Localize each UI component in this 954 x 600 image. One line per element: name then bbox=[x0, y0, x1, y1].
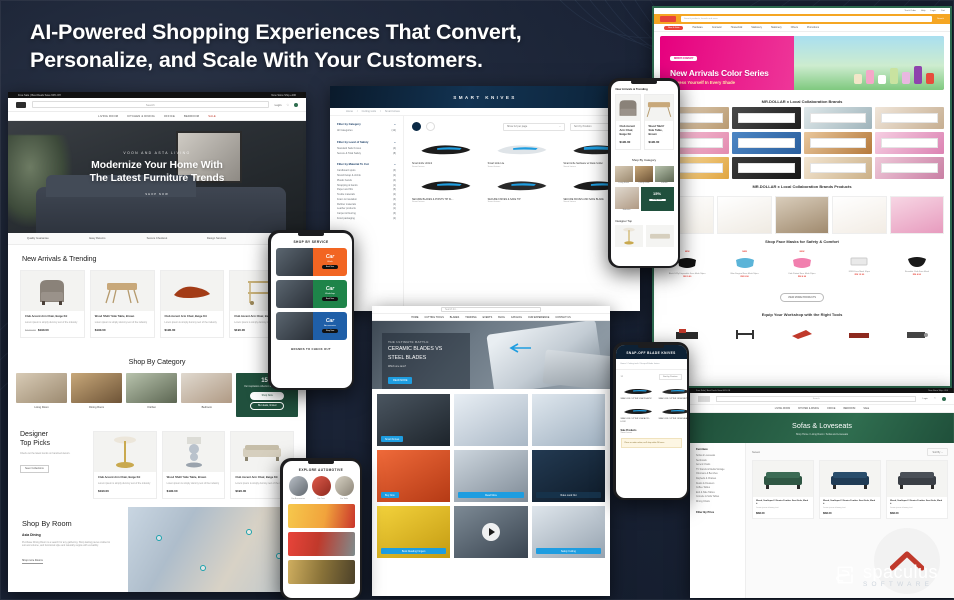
product-title: Club Accent Arm Chair, Beige Kit bbox=[25, 315, 80, 319]
product-card[interactable]: Club Accent Arm Chair, Beige Kit Lorem i… bbox=[20, 270, 85, 338]
product-title: SNAP-OFF CUTTER 9 MM AUTO-LOCK bbox=[621, 418, 655, 424]
view-more-products-button[interactable]: VIEW MORE PRODUCTS bbox=[780, 293, 824, 302]
product-desc: Lorem ipsum is simply dummy text of the … bbox=[98, 482, 152, 486]
search-bar[interactable]: Search products, brands and more Search bbox=[654, 14, 950, 24]
product-title: SNAP-OFF CUTTER 18 MM HEAVY bbox=[659, 418, 687, 421]
chevron-down-icon[interactable]: ⌄ bbox=[394, 140, 396, 144]
tile-caption[interactable]: Video Look Out bbox=[536, 492, 601, 498]
hero-arrow-icon bbox=[506, 343, 532, 353]
product-title: Wood, Scalloped 3 Seater Feather Seat So… bbox=[756, 500, 810, 507]
designer-collections-button[interactable]: Seen Collections bbox=[20, 465, 49, 473]
phone-mockup-furniture[interactable]: New Arrivals & Trending Club Accent Arm … bbox=[608, 78, 680, 268]
category-row[interactable]: Living Room Dining Room Kitchen Bedroom … bbox=[8, 373, 306, 425]
hotspot-marker[interactable] bbox=[200, 565, 206, 571]
banner-brand-tag: MRDIY.COM.MY bbox=[670, 56, 697, 61]
tool-product-card[interactable] bbox=[660, 324, 714, 344]
product-card[interactable]: Wood, Scalloped 3 Seater Feather Seat So… bbox=[819, 460, 881, 519]
banner-bottles bbox=[854, 66, 934, 84]
brands-grid[interactable] bbox=[654, 107, 950, 179]
nav-item-household[interactable]: Household bbox=[731, 26, 742, 29]
product-title: Wood, Scalloped 3 Seater Feather Seat So… bbox=[890, 500, 944, 507]
category-car-tools[interactable]: Car Tools bbox=[335, 476, 354, 500]
filter-price-title: Filter By Price bbox=[696, 511, 739, 514]
cart-icon[interactable] bbox=[294, 103, 298, 107]
breadcrumb[interactable]: Home/ Cutting tools/ Smart knives bbox=[330, 108, 640, 116]
phone-mockup-explore-automotive[interactable]: EXPLORE AUTOMOTIVE Car Accessories Car C… bbox=[280, 458, 362, 600]
login-link[interactable]: Login bbox=[931, 10, 936, 12]
promo-banner-car-care-special[interactable] bbox=[288, 504, 355, 528]
designer-title-line1: Designer bbox=[20, 431, 88, 440]
product-price: $190.00 bbox=[165, 328, 220, 332]
service-text: Car Accessories Shop Now bbox=[313, 312, 346, 340]
phone-screen: SHOP BY SERVICE Car Wash Book Now Car Wo… bbox=[271, 233, 352, 388]
filter-group-title: Filter by Material To Cut⌄ bbox=[337, 162, 396, 166]
new-arrivals-title: New Arrivals & Trending bbox=[8, 245, 306, 270]
hero-subtitle: Which one wins? bbox=[388, 365, 464, 368]
account-label[interactable]: Login bbox=[275, 103, 282, 107]
category-label: Car Accessories bbox=[289, 498, 308, 500]
tools-row[interactable] bbox=[654, 320, 950, 348]
play-icon[interactable] bbox=[482, 523, 500, 541]
product-price: RM 9.90 bbox=[660, 276, 714, 278]
track-order-link[interactable]: Track Order bbox=[904, 10, 916, 12]
service-button[interactable]: Shop Now bbox=[322, 329, 338, 333]
content-tile[interactable]: Video Look Out bbox=[532, 450, 605, 502]
hero-title-line1: Modernize Your Home With bbox=[8, 159, 306, 172]
tool-product-card[interactable] bbox=[832, 324, 886, 344]
nav-item-contact-us[interactable]: CONTACT US bbox=[555, 316, 570, 319]
brand-card[interactable] bbox=[732, 107, 801, 129]
bedroom-and-promo[interactable]: Bedroom 15% Shop Now bbox=[611, 184, 678, 214]
hotspot-marker[interactable] bbox=[156, 535, 162, 541]
product-grid[interactable]: Wood, Scalloped 3 Seater Feather Seat So… bbox=[752, 460, 948, 519]
product-card[interactable]: Smart knife Lite Smart knives bbox=[488, 138, 557, 168]
slide-canvas: AI-Powered Shopping Experiences That Con… bbox=[0, 0, 954, 600]
hero-read-more-button[interactable]: READ MORE bbox=[388, 377, 412, 384]
product-title: Club Accent Arm Chair, Beige Kit bbox=[620, 125, 636, 137]
mask-product-card[interactable]: NEW Blue Surgical Face Mask 50pcs RM 8.9… bbox=[717, 251, 771, 278]
list-view-button[interactable] bbox=[426, 122, 435, 131]
product-card[interactable]: Club Accent Arm Chair, Beige Kit$190.00 bbox=[615, 94, 641, 150]
product-grid-area: Show 12 per page⌄ Sort by Position⌄ Smar… bbox=[404, 116, 640, 311]
note-sub: Smart knives bbox=[621, 432, 682, 434]
product-image bbox=[753, 461, 813, 497]
watermark-text: spaculus SOFTWARE bbox=[863, 562, 938, 588]
category-card-dining-room[interactable]: Dining Room bbox=[635, 166, 653, 184]
phone-screen: EXPLORE AUTOMOTIVE Car Accessories Car C… bbox=[283, 461, 360, 598]
masks-row[interactable]: NEW Black 3-Ply Disposable Face Mask 50p… bbox=[654, 247, 950, 282]
search-input[interactable]: Search for... bbox=[441, 307, 541, 312]
category-image bbox=[126, 373, 177, 403]
category-card-living-room[interactable]: Living Room bbox=[16, 373, 67, 417]
usp-quality: Quality Guarantee bbox=[8, 237, 68, 240]
furniture-desktop-mockup[interactable]: Free Sale | Best Deals Save 60% Off New … bbox=[8, 92, 306, 592]
hero-title-line2: The Latest Furniture Trends bbox=[8, 172, 306, 185]
mask-product-card[interactable]: KN95 Face Mask 10pcs RM 12.90 bbox=[832, 251, 886, 276]
usp-returns: Easy Returns bbox=[68, 237, 128, 240]
nav-item-office[interactable]: OFFICE bbox=[827, 408, 835, 410]
nav-item-office[interactable]: OFFICE bbox=[164, 115, 175, 118]
nav-item-blades[interactable]: BLADES bbox=[450, 316, 459, 319]
cart-link[interactable]: Cart bbox=[941, 10, 945, 12]
mask-product-card[interactable]: Reusable Cloth Face Mask RM 4.90 bbox=[890, 251, 944, 276]
filter-group-material[interactable]: Filter by Material To Cut⌄ Cardboard spo… bbox=[337, 162, 396, 221]
nav-item-cosmetic[interactable]: Cosmetic bbox=[712, 26, 722, 29]
product-title: Wood, Scalloped 3 Seater Feather Seat So… bbox=[823, 500, 877, 507]
category-car-accessories[interactable]: Car Accessories bbox=[289, 476, 308, 500]
product-image bbox=[820, 461, 880, 497]
product-card[interactable] bbox=[832, 196, 886, 234]
service-card-car-wash[interactable]: Car Wash Book Now bbox=[276, 248, 347, 276]
phone-notch bbox=[638, 344, 664, 349]
hero-text: VOON AND ASTA LIVING Modernize Your Home… bbox=[8, 151, 306, 196]
category-card-dining-room[interactable]: Dining Room bbox=[71, 373, 122, 417]
product-card[interactable]: SECURE BLADES & POINTS TIP FL... Smart k… bbox=[412, 174, 481, 204]
header-actions[interactable]: Login ♡ bbox=[275, 103, 298, 107]
category-hero: Sofas & Loveseats Shop Home / Living Roo… bbox=[690, 413, 954, 443]
product-price: RM 4.90 bbox=[890, 274, 944, 276]
product-desc: Lorem ipsum is simply dummy text of the … bbox=[167, 482, 221, 486]
account-label[interactable]: Login bbox=[922, 398, 927, 400]
nav-item-our-experience[interactable]: OUR EXPERIENCE bbox=[528, 316, 549, 319]
product-image bbox=[488, 138, 557, 160]
toolbar[interactable]: Newest Sort By ⌄ bbox=[752, 448, 948, 456]
service-sub: Accessories bbox=[324, 325, 336, 327]
nav-item-kitchen-dining[interactable]: KITCHEN & DINING bbox=[127, 115, 155, 118]
product-title: SNAP-OFF CUTTER 18 MM METAL bbox=[659, 398, 687, 401]
promo-shop-now-button[interactable]: Shop Now bbox=[250, 392, 284, 400]
shop-by-category-title: Shop By Category bbox=[8, 348, 306, 373]
product-card[interactable]: SNAP-OFF CUTTER 9 MM AUTO-LOCK bbox=[621, 404, 655, 424]
view-more-wrap[interactable]: VIEW MORE PRODUCTS bbox=[654, 285, 950, 303]
brand-card[interactable] bbox=[732, 157, 801, 179]
product-desc: Lorem ipsum is simply dummy text of the … bbox=[25, 321, 80, 325]
cutting-tools-desktop-mockup[interactable]: Search for... HOME CUTTING TOOLS BLADES … bbox=[372, 306, 610, 596]
category-circles[interactable]: Car Accessories Car Care Car Tools bbox=[283, 476, 360, 504]
category-car-care[interactable]: Car Care bbox=[312, 476, 331, 500]
brands-section-title: MR.DOLLAR x Local Collaboration Brands bbox=[654, 94, 950, 107]
brand-card[interactable] bbox=[804, 157, 873, 179]
product-price: $890.00 bbox=[756, 512, 810, 515]
per-page-select[interactable]: Show 12 per page⌄ bbox=[503, 123, 565, 131]
category-nav[interactable]: New & Sale Hardware Cosmetic Household S… bbox=[654, 24, 950, 32]
product-image bbox=[163, 432, 225, 472]
product-image bbox=[832, 251, 886, 271]
product-image bbox=[412, 138, 481, 160]
brand-products-title: MR.DOLLAR x Local Collaboration Brands P… bbox=[654, 179, 950, 192]
product-card[interactable]: SNAP-OFF CUTTER 18 MM METAL bbox=[659, 384, 687, 401]
nav-item-blog[interactable]: BLOG bbox=[498, 316, 505, 319]
filter-group-safety[interactable]: Filter by Level of Safety⌄ Standard Safe… bbox=[337, 140, 396, 157]
product-card[interactable]: SNAP-OFF CUTTER 18 MM HEAVY bbox=[659, 404, 687, 424]
category-image bbox=[16, 373, 67, 403]
product-desc: Lorem ipsum dummy text bbox=[890, 507, 944, 510]
tile-caption[interactable]: Read More bbox=[458, 492, 523, 498]
nav-item-sale[interactable]: SALE bbox=[208, 115, 216, 118]
hero-banner[interactable]: MRDIY.COM.MY New Arrivals Color Series E… bbox=[660, 36, 944, 90]
promo-discount: 15% bbox=[643, 191, 672, 196]
product-card[interactable] bbox=[775, 196, 829, 234]
nav-item-sale[interactable]: SALE bbox=[863, 408, 869, 410]
help-link[interactable]: Help bbox=[921, 10, 926, 12]
product-carousel[interactable]: Club Accent Arm Chair, Beige Kit Lorem i… bbox=[8, 270, 306, 348]
product-body: Wood, Scalloped 3 Seater Feather Seat So… bbox=[753, 497, 813, 518]
filter-item[interactable]: Food packaging(2) bbox=[337, 217, 396, 222]
brand-logo[interactable] bbox=[660, 16, 676, 22]
tile-caption[interactable]: Smart Knives bbox=[381, 436, 403, 442]
product-card[interactable]: Smart knife Unlimit Smart knives bbox=[412, 138, 481, 168]
promo-secondary-button[interactable]: But deals, limited bbox=[250, 402, 284, 410]
main-nav[interactable]: HOME CUTTING TOOLS BLADES TRAINING EVENT… bbox=[372, 314, 610, 321]
service-name: Car bbox=[326, 255, 334, 260]
hotspot-marker[interactable] bbox=[246, 529, 252, 535]
chevron-down-icon[interactable]: ⌄ bbox=[394, 162, 396, 166]
nav-item-living-room[interactable]: LIVING ROOM bbox=[98, 115, 118, 118]
sidebar-title: Furniture bbox=[696, 448, 739, 451]
content-tile[interactable] bbox=[454, 506, 527, 558]
brand-products-row[interactable] bbox=[654, 192, 950, 234]
usp-checkout: Secure Checkout bbox=[127, 237, 187, 240]
category-image bbox=[181, 373, 232, 403]
product-card[interactable]: Wood, Scalloped 3 Seater Feather Seat So… bbox=[752, 460, 814, 519]
category-card-living-room[interactable]: Living Room bbox=[615, 166, 633, 184]
service-name: Car bbox=[326, 319, 334, 324]
hero-blade-image bbox=[542, 349, 610, 389]
product-card[interactable]: Wood 'Multi' Side Table, Brown$190.00 bbox=[644, 94, 674, 150]
shop-by-room-link[interactable]: Shop more Rooms bbox=[22, 559, 43, 564]
toolbar[interactable]: 12 Sort by Position bbox=[616, 370, 687, 384]
service-card-car-workshop[interactable]: Car Workshop Book Now bbox=[276, 280, 347, 308]
category-grid[interactable]: Living Room Dining Room Kitchen bbox=[611, 166, 678, 184]
brand-card[interactable] bbox=[875, 107, 944, 129]
nav-item-hardware[interactable]: Hardware bbox=[692, 26, 702, 29]
nav-item-promotions[interactable]: Promotions bbox=[807, 26, 819, 29]
tool-product-card[interactable] bbox=[775, 324, 829, 344]
product-card[interactable]: Wood, Scalloped 3 Seater Feather Seat So… bbox=[886, 460, 948, 519]
product-card[interactable]: Wood 'Multi' Side Table, Brown Lorem ips… bbox=[90, 270, 155, 338]
tool-product-card[interactable] bbox=[717, 324, 771, 344]
nav-item-stationery-2[interactable]: Stationery bbox=[771, 26, 782, 29]
cart-icon[interactable] bbox=[942, 397, 946, 401]
product-image bbox=[488, 174, 557, 196]
service-name: Car bbox=[326, 287, 334, 292]
product-body: Wood, Scalloped 3 Seater Feather Seat So… bbox=[887, 497, 947, 518]
spaculus-logo-icon bbox=[835, 564, 857, 586]
nav-item-stationery[interactable]: Stationery bbox=[751, 26, 762, 29]
tool-product-card[interactable] bbox=[890, 324, 944, 344]
search-input[interactable]: Search bbox=[32, 101, 269, 108]
nav-item-living-room[interactable]: LIVING ROOM bbox=[775, 408, 790, 410]
nav-item-new-sale[interactable]: New & Sale bbox=[664, 26, 683, 30]
content-tile[interactable] bbox=[454, 394, 527, 446]
breadcrumb-home[interactable]: Home bbox=[346, 110, 353, 113]
grid-view-button[interactable] bbox=[412, 122, 421, 131]
product-image bbox=[412, 174, 481, 196]
promo-card[interactable]: 15% Shop Now bbox=[641, 187, 674, 211]
product-body: Wood 'Multi' Side Table, Brown Lorem ips… bbox=[163, 472, 225, 498]
product-price: RM 12.90 bbox=[832, 274, 886, 276]
category-image bbox=[71, 373, 122, 403]
product-card[interactable]: SECURE KNIVES & SAFE TIP Smart knives bbox=[488, 174, 557, 204]
product-price: $190.00 bbox=[95, 328, 150, 332]
search-input[interactable]: Search bbox=[716, 396, 916, 402]
service-button[interactable]: Book Now bbox=[322, 297, 338, 301]
note-banner: Place an order online, we'll ship within… bbox=[621, 438, 682, 448]
banner-subtitle: Express Yourself In Every Shade bbox=[670, 80, 769, 85]
product-image[interactable] bbox=[615, 225, 643, 247]
product-card[interactable] bbox=[890, 196, 944, 234]
category-card-bedroom[interactable]: Bedroom bbox=[181, 373, 232, 417]
product-image bbox=[91, 271, 154, 311]
product-card[interactable]: Club Accent Arm Chair, Beige Kit Lorem i… bbox=[93, 431, 157, 499]
brand-card[interactable] bbox=[875, 157, 944, 179]
category-card-bedroom[interactable]: Bedroom bbox=[615, 187, 639, 211]
content-tile[interactable]: Smart Knives bbox=[377, 394, 450, 446]
content-tile[interactable]: Book Reading Fingers bbox=[377, 506, 450, 558]
nav-item-catalog[interactable]: CATALOG bbox=[511, 316, 522, 319]
product-image bbox=[94, 432, 156, 472]
category-image bbox=[335, 476, 354, 496]
chevron-down-icon[interactable]: ⌄ bbox=[394, 122, 396, 126]
main-nav[interactable]: LIVING ROOM KITCHEN & DINING OFFICE BEDR… bbox=[8, 112, 306, 121]
product-price: $190.00 bbox=[620, 140, 636, 144]
promo-shop-now-button[interactable]: Shop Now bbox=[649, 199, 666, 201]
brand-logo[interactable] bbox=[698, 396, 710, 402]
category-image bbox=[289, 476, 308, 496]
site-header: Search Login ♡ bbox=[690, 393, 954, 405]
nav-item-kitchen-dining[interactable]: KITCHEN & DINING bbox=[798, 408, 819, 410]
tile-caption[interactable]: Buy Now bbox=[381, 492, 399, 498]
content-tile[interactable]: Read More bbox=[454, 450, 527, 502]
product-grid[interactable]: SNAP-OFF CUTTER 9 MM PLASTIC SNAP-OFF CU… bbox=[616, 384, 687, 425]
hero-overlay: THE ULTIMATE BATTLE CERAMIC BLADES VS ST… bbox=[382, 333, 470, 389]
product-price: $190.00 bbox=[98, 489, 152, 493]
spaculus-watermark: spaculus SOFTWARE bbox=[835, 562, 938, 588]
wishlist-icon[interactable]: ♡ bbox=[286, 103, 289, 107]
tile-caption[interactable]: Book Reading Fingers bbox=[381, 548, 446, 554]
product-title: Wood 'Multi' Side Table, Brown bbox=[167, 476, 221, 480]
service-card-car-accessories[interactable]: Car Accessories Shop Now bbox=[276, 312, 347, 340]
brand-card[interactable] bbox=[804, 132, 873, 154]
brand-card[interactable] bbox=[804, 107, 873, 129]
sidebar-item-dining-chairs[interactable]: Dining Chairs bbox=[696, 500, 739, 505]
mr-dollar-desktop-mockup[interactable]: Track Order Help Login Cart Search produ… bbox=[652, 6, 952, 388]
product-desc: Lorem ipsum is simply dummy text of the … bbox=[95, 321, 150, 325]
sort-select[interactable]: Sort by Position bbox=[659, 374, 682, 380]
nav-item-others[interactable]: Others bbox=[791, 26, 798, 29]
wishlist-icon[interactable]: ♡ bbox=[934, 397, 936, 400]
sort-select[interactable]: Sort By ⌄ bbox=[927, 448, 948, 456]
product-card[interactable] bbox=[717, 196, 771, 234]
brand-logo[interactable] bbox=[16, 102, 26, 108]
product-grid[interactable]: Smart knife Unlimit Smart knives Smart k… bbox=[412, 138, 632, 203]
usp-bar: Quality Guarantee Easy Returns Secure Ch… bbox=[8, 233, 306, 245]
product-price: RM 8.90 bbox=[717, 276, 771, 278]
service-text: Car Workshop Book Now bbox=[313, 280, 346, 308]
product-subtitle: Smart knives bbox=[412, 201, 481, 203]
product-title: Club Accent Arm Chair, Beige Kit bbox=[165, 315, 220, 319]
hero-kicker: VOON AND ASTA LIVING bbox=[8, 151, 306, 155]
search-input[interactable]: Search products, brands and more bbox=[681, 16, 932, 22]
shop-by-room-subtitle: Asia Dining bbox=[22, 533, 114, 537]
main-nav[interactable]: LIVING ROOM KITCHEN & DINING OFFICE BEDR… bbox=[690, 405, 954, 413]
hero-title-line1: CERAMIC BLADES VS bbox=[388, 346, 464, 353]
service-button[interactable]: Book Now bbox=[322, 265, 338, 269]
results-label: Newest bbox=[752, 451, 760, 454]
product-row[interactable]: Club Accent Arm Chair, Beige Kit$190.00 … bbox=[611, 94, 678, 154]
product-price: RM 6.90 bbox=[775, 276, 829, 278]
product-card[interactable]: Club Accent Arm Chair, Beige Kit Lorem i… bbox=[160, 270, 225, 338]
results-count: 12 bbox=[621, 376, 623, 378]
promo-banner-car-care-restocked[interactable] bbox=[288, 532, 355, 556]
product-image[interactable] bbox=[646, 225, 674, 247]
promo-banner-detailing-kits[interactable] bbox=[288, 560, 355, 584]
site-hero-header: SMART KNIVES bbox=[330, 86, 640, 108]
hero-banner: VOON AND ASTA LIVING Modernize Your Home… bbox=[8, 121, 306, 233]
content-tile[interactable]: Safety Cutting bbox=[532, 506, 605, 558]
product-card[interactable]: SNAP-OFF CUTTER 9 MM PLASTIC bbox=[621, 384, 655, 401]
mask-product-card[interactable]: NEW Kids Printed Face Mask 20pcs RM 6.90 bbox=[775, 251, 829, 278]
product-title: Wood 'Multi' Side Table, Brown bbox=[649, 125, 669, 137]
product-body: Club Accent Arm Chair, Beige Kit Lorem i… bbox=[94, 472, 156, 498]
designer-row[interactable] bbox=[611, 225, 678, 247]
brand-card[interactable] bbox=[875, 132, 944, 154]
category-card-kitchen[interactable]: Kitchen bbox=[655, 166, 673, 184]
filter-group-category[interactable]: Filter by Category⌄ All Categories(12) bbox=[337, 122, 396, 134]
tile-caption[interactable]: Safety Cutting bbox=[536, 548, 601, 554]
product-subtitle: Smart knives bbox=[488, 166, 557, 168]
toolbar[interactable]: Show 12 per page⌄ Sort by Position⌄ bbox=[412, 122, 632, 131]
phone-mockup-shop-by-service[interactable]: SHOP BY SERVICE Car Wash Book Now Car Wo… bbox=[268, 230, 354, 390]
product-image bbox=[21, 271, 84, 311]
phone-mockup-snapoff-knives[interactable]: SNAP-OFF BLADE KNIVES Home / Cutting too… bbox=[613, 342, 689, 500]
category-card-kitchen[interactable]: Kitchen bbox=[126, 373, 177, 417]
filter-item[interactable]: Secure & Total Safety(8) bbox=[337, 152, 396, 157]
search-button[interactable]: Search bbox=[937, 18, 944, 20]
category-label: Kitchen bbox=[126, 403, 177, 409]
nav-item-events[interactable]: EVENTS bbox=[483, 316, 493, 319]
category-title: Shop By Category bbox=[611, 154, 678, 166]
brand-card[interactable] bbox=[732, 132, 801, 154]
content-tile[interactable]: Buy Now bbox=[377, 450, 450, 502]
nav-item-bedroom[interactable]: BEDROOM bbox=[843, 408, 855, 410]
category-label: Car Tools bbox=[335, 498, 354, 500]
product-title: Club Accent Arm Chair, Beige Kit bbox=[98, 476, 152, 480]
nav-item-home[interactable]: HOME bbox=[411, 316, 418, 319]
product-price: $220.00$190.00 bbox=[25, 328, 80, 332]
product-card[interactable]: Wood 'Multi' Side Table, Brown Lorem ips… bbox=[162, 431, 226, 499]
page-title: Sofas & Loveseats bbox=[792, 421, 852, 430]
content-tile[interactable] bbox=[532, 394, 605, 446]
content-tiles-grid[interactable]: Smart Knives Buy Now Read More Video Loo… bbox=[372, 389, 610, 563]
product-desc: Lorem ipsum is simply dummy text of the … bbox=[165, 321, 220, 325]
watermark-name: spaculus bbox=[863, 562, 938, 583]
nav-item-cutting-tools[interactable]: CUTTING TOOLS bbox=[424, 316, 443, 319]
product-image bbox=[887, 461, 947, 497]
breadcrumb-cutting-tools[interactable]: Cutting tools bbox=[362, 110, 376, 113]
smart-knives-desktop-mockup[interactable]: SMART KNIVES Home/ Cutting tools/ Smart … bbox=[330, 86, 640, 311]
phone-screen: SNAP-OFF BLADE KNIVES Home / Cutting too… bbox=[616, 345, 687, 498]
note-block: Sale Products Smart knives bbox=[616, 424, 687, 434]
nav-item-bedroom[interactable]: BEDROOM bbox=[184, 115, 199, 118]
nav-item-training[interactable]: TRAINING bbox=[465, 316, 476, 319]
breadcrumb[interactable]: Shop Home / Living Room / Sofas and Love… bbox=[796, 433, 848, 436]
filter-item[interactable]: All Categories(12) bbox=[337, 129, 396, 134]
filter-sidebar[interactable]: Furniture Sofas & Loveseats Sectionals A… bbox=[690, 443, 746, 598]
hero-cta-button[interactable]: SHOP NOW bbox=[8, 192, 306, 196]
phone-notch bbox=[631, 80, 657, 85]
breadcrumb[interactable]: Home / Cutting tools / Snap-off blade kn… bbox=[616, 359, 687, 370]
